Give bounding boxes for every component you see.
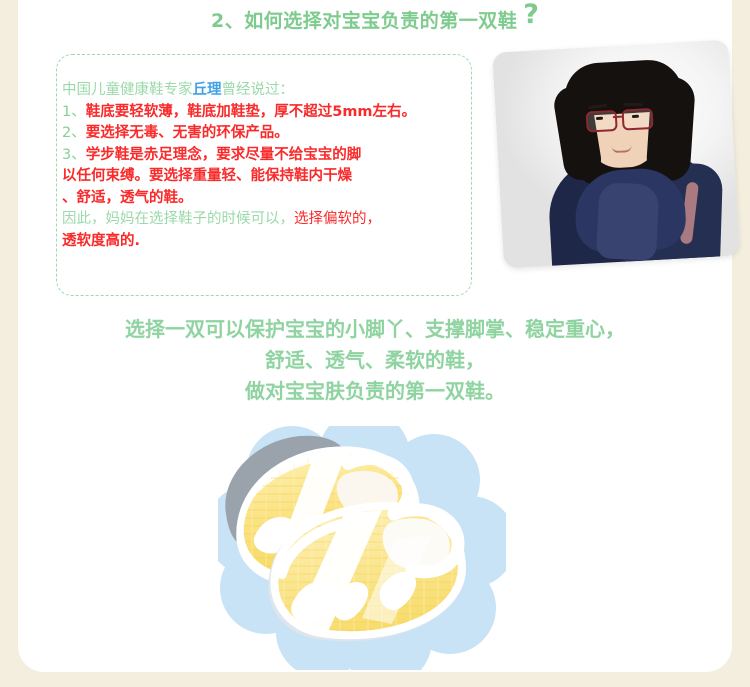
section-heading: 2、如何选择对宝宝负责的第一双鞋? [18, 4, 732, 35]
quote-item: 2、要选择无毒、无害的环保产品。 [62, 123, 482, 145]
baby-sandals-image [196, 418, 548, 672]
expert-portrait [492, 40, 740, 269]
quote-item-marker: 3、 [62, 147, 86, 163]
quote-intro-line: 中国儿童健康鞋专家丘理曾经说过： [62, 80, 482, 102]
portrait-brow-right [623, 103, 642, 106]
quote-item-marker: 1、 [62, 104, 86, 120]
closing-statement: 选择一双可以保护宝宝的小脚丫、支撑脚掌、稳定重心， 舒适、透气、柔软的鞋， 做对… [18, 314, 732, 407]
quote-item-text: 鞋底要轻软薄，鞋底加鞋垫，厚不超过5mm左右。 [86, 104, 416, 120]
closing-statement-line: 选择一双可以保护宝宝的小脚丫、支撑脚掌、稳定重心， [18, 314, 732, 345]
quote-item: 1、鞋底要轻软薄，鞋底加鞋垫，厚不超过5mm左右。 [62, 102, 482, 124]
quote-conclusion-green: 因此，妈妈在选择鞋子的时候可以， [62, 211, 294, 227]
page-root: 2、如何选择对宝宝负责的第一双鞋? 中国儿童健康鞋专家丘理曾经说过： 1、鞋底要… [0, 0, 750, 687]
expert-quote-content: 中国儿童健康鞋专家丘理曾经说过： 1、鞋底要轻软薄，鞋底加鞋垫，厚不超过5mm左… [62, 80, 482, 252]
quote-conclusion-red: 选择偏软的， [294, 211, 381, 227]
quote-intro-before: 中国儿童健康鞋专家 [62, 82, 193, 98]
quote-item: 3、学步鞋是赤足理念，要求尽量不给宝宝的脚 [62, 145, 482, 167]
section-heading-text: 2、如何选择对宝宝负责的第一双鞋 [211, 10, 517, 32]
closing-statement-line: 舒适、透气、柔软的鞋， [18, 345, 732, 376]
portrait-scarf-fold [596, 182, 660, 261]
product-photo [196, 418, 548, 672]
quote-continuation-line: 以任何束缚。要选择重量轻、能保持鞋内干燥 [62, 166, 482, 188]
closing-statement-line: 做对宝宝肤负责的第一双鞋。 [18, 376, 732, 407]
expert-name: 丘理 [193, 82, 222, 98]
quote-item-text: 学步鞋是赤足理念，要求尽量不给宝宝的脚 [86, 147, 362, 163]
quote-item-text: 要选择无毒、无害的环保产品。 [86, 125, 289, 141]
quote-intro-after: 曾经说过： [222, 82, 295, 98]
quote-continuation-line: 、舒适，透气的鞋。 [62, 188, 482, 210]
question-mark-icon: ? [523, 0, 539, 30]
quote-conclusion-line-2: 透软度高的. [62, 231, 482, 253]
glasses-lens-left-icon [586, 110, 618, 133]
quote-item-marker: 2、 [62, 125, 86, 141]
portrait-hair-right [645, 76, 696, 183]
quote-conclusion-line: 因此，妈妈在选择鞋子的时候可以，选择偏软的， [62, 209, 482, 231]
glasses-lens-right-icon [622, 108, 654, 131]
expert-portrait-image [492, 40, 740, 269]
